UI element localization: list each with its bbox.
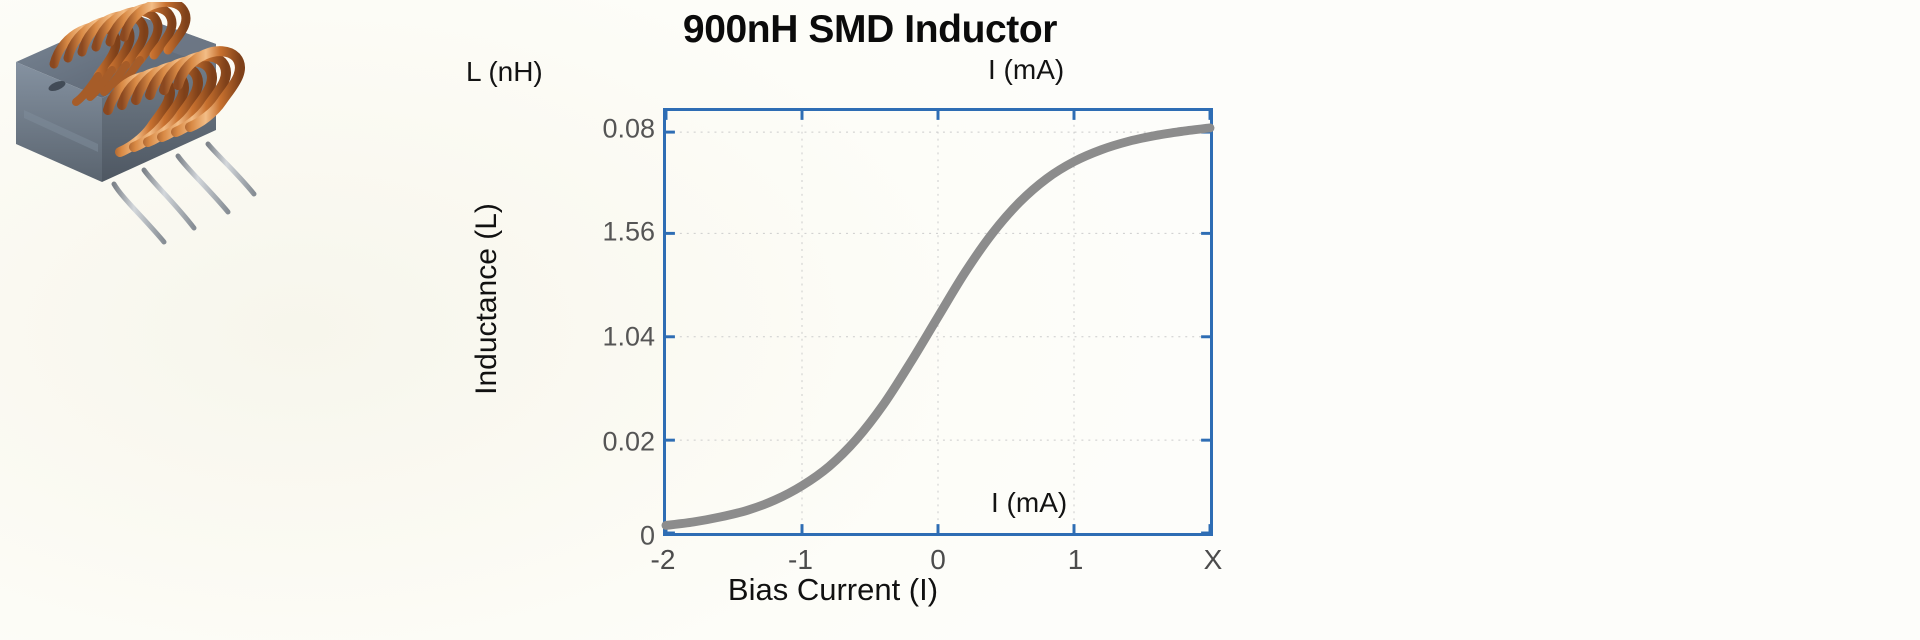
y-axis-title: Inductance (L): [470, 149, 504, 449]
common-mode-choke-inductor-photo: [2, 2, 280, 254]
y-tick-label: 0.08: [545, 114, 655, 145]
chart-title: 900nH SMD Inductor: [550, 8, 1190, 52]
x-tick-label: 0: [898, 544, 978, 576]
axis-unit-label-top-left: L (nH): [466, 56, 543, 88]
x-tick-labels: -2-101X: [663, 544, 1213, 586]
screenshot-root: 900nH SMD Inductor L (nH) I (mA) I (mA) …: [0, 0, 1920, 640]
plot-area: [663, 108, 1213, 536]
x-tick-label: -2: [623, 544, 703, 576]
y-tick-labels: 0.081.561.040.020: [535, 108, 655, 536]
inductance-vs-bias-current-chart: 900nH SMD Inductor L (nH) I (mA) I (mA) …: [440, 0, 1300, 640]
plot-canvas: [666, 111, 1210, 533]
x-tick-label: -1: [761, 544, 841, 576]
x-tick-label: 1: [1036, 544, 1116, 576]
y-tick-label: 1.56: [545, 217, 655, 248]
x-tick-label: X: [1173, 544, 1253, 576]
axis-unit-label-top-right: I (mA): [988, 54, 1064, 86]
y-tick-label: 0.02: [545, 426, 655, 457]
y-tick-label: 1.04: [545, 321, 655, 352]
